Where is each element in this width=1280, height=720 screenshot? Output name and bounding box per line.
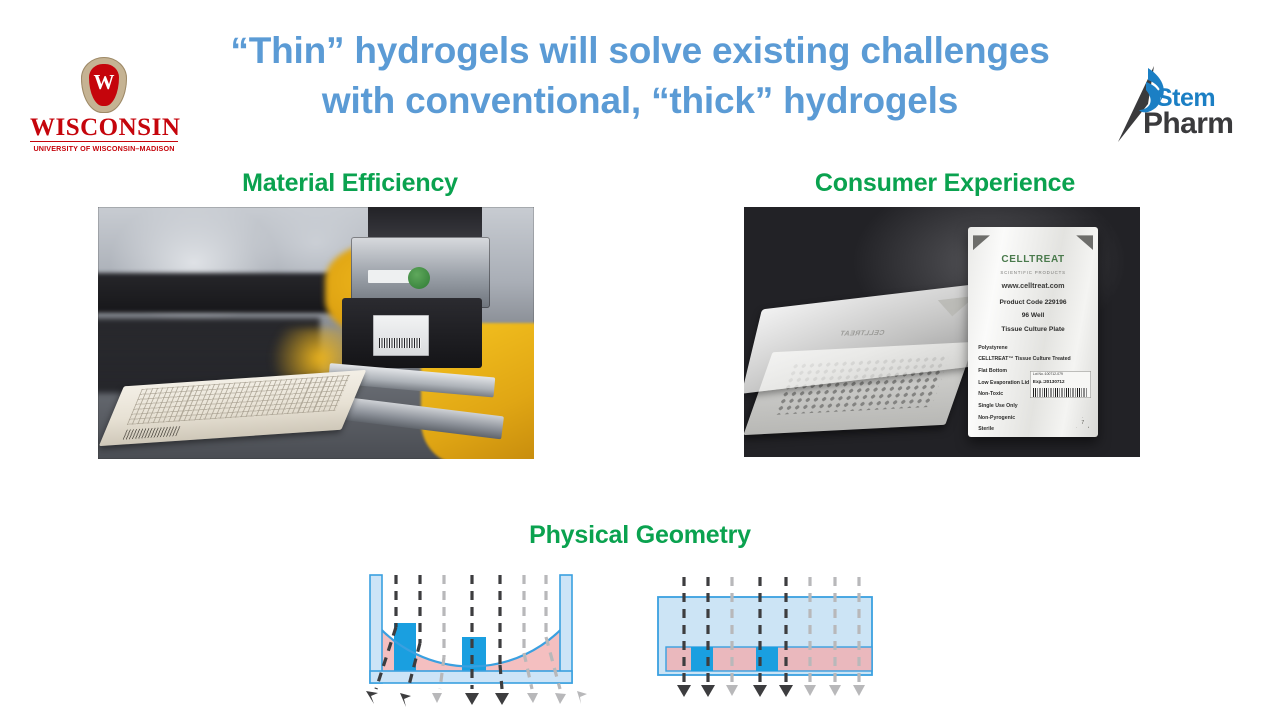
pouch-spec-item: Polystyrene <box>978 343 1093 355</box>
diagram-thin-hydrogel-well <box>650 565 880 713</box>
arrowhead-dark-tilted <box>366 691 378 704</box>
well-wall-right <box>560 575 572 683</box>
title-line-2: with conventional, “thick” hydrogels <box>150 76 1130 126</box>
pouch-tear-notch-right <box>1076 235 1093 250</box>
diagram-thick-hydrogel-well <box>352 565 590 713</box>
arrowhead-light <box>853 685 865 696</box>
arrowhead-dark <box>495 693 509 705</box>
section-heading-consumer-experience: Consumer Experience <box>750 169 1140 198</box>
pouch-lot-block: Lot No.:100712-079 Exp.:20130712 <box>1030 371 1090 398</box>
pouch-spec-item: Single Use Only <box>978 401 1093 413</box>
uw-wordmark: WISCONSIN <box>30 115 178 140</box>
arrowhead-light <box>829 685 841 696</box>
pouch-brand-name: CELLTREAT <box>968 254 1099 265</box>
pouch-spec-item: CELLTREAT™ Tissue Culture Treated <box>978 354 1093 366</box>
pouch-barcode <box>1033 388 1088 396</box>
photo-robot-barcode <box>379 338 420 348</box>
uw-crest-letter: W <box>89 72 119 93</box>
exit-arrowheads <box>366 691 587 707</box>
section-heading-physical-geometry: Physical Geometry <box>445 521 835 550</box>
arrowhead-dark-tilted <box>400 693 411 707</box>
arrowhead-light-tilted <box>577 691 587 704</box>
arrowhead-light <box>432 693 442 703</box>
arrowhead-dark <box>779 685 793 697</box>
university-logo: W WISCONSIN UNIVERSITY OF WISCONSIN–MADI… <box>30 57 178 157</box>
slide-canvas: “Thin” hydrogels will solve existing cha… <box>0 0 1280 720</box>
photo-robotic-arm-microplate <box>98 207 534 459</box>
cell-band <box>691 647 713 671</box>
thin-gel-layer <box>666 647 872 671</box>
section-heading-material-efficiency: Material Efficiency <box>160 169 540 198</box>
pouch-product-name: Tissue Culture Plate <box>968 323 1099 336</box>
arrowhead-light <box>527 693 538 703</box>
title-line-1: “Thin” hydrogels will solve existing cha… <box>150 26 1130 76</box>
photo-peel-film-brand: CELLTREAT <box>838 329 885 337</box>
exit-arrowheads <box>677 685 865 697</box>
arrowhead-dark <box>465 693 479 705</box>
arrowhead-light-tilted <box>555 693 566 704</box>
photo-microplate-barcode <box>123 427 180 440</box>
pouch-product-info: Product Code 229196 96 Well Tissue Cultu… <box>968 296 1099 336</box>
arrowhead-dark <box>677 685 691 697</box>
arrowhead-light <box>804 685 816 696</box>
arrowhead-light <box>726 685 738 696</box>
uw-subtitle: UNIVERSITY OF WISCONSIN–MADISON <box>30 141 178 152</box>
pouch-url: www.celltreat.com <box>968 281 1099 290</box>
cell-band <box>462 637 486 675</box>
pouch-tear-notch-left <box>973 235 990 250</box>
company-name-pharm: Pharm <box>1143 110 1233 139</box>
pouch-well-count: 96 Well <box>968 309 1099 322</box>
recycle-icon: 7 <box>1076 417 1089 429</box>
photo-sterile-pouch: CELLTREAT SCIENTIFIC PRODUCTS www.celltr… <box>968 227 1099 437</box>
photo-celltreat-plate-pouch: CELLTREAT CELLTREAT SCIENTIFIC PRODUCTS … <box>744 207 1140 457</box>
arrowhead-dark <box>753 685 767 697</box>
uw-crest-icon: W <box>81 57 127 113</box>
company-name: Stem Pharm <box>1156 86 1233 139</box>
uw-crest-shield: W <box>89 64 119 106</box>
photo-robot-label-front <box>373 315 430 355</box>
company-logo: Stem Pharm <box>1108 60 1253 155</box>
photo-robot-green-marker <box>408 267 430 289</box>
photo-dark-rail <box>98 273 351 313</box>
pouch-expiry: Exp.:20130712 <box>1033 379 1065 384</box>
pouch-brand-subtitle: SCIENTIFIC PRODUCTS <box>968 270 1099 275</box>
arrowhead-dark <box>701 685 715 697</box>
well-wall-left <box>370 575 382 683</box>
pouch-product-code: Product Code 229196 <box>968 296 1099 309</box>
pouch-lot-number: Lot No.:100712-079 <box>1033 372 1063 376</box>
photo-robot-label-top <box>368 270 412 283</box>
page-title: “Thin” hydrogels will solve existing cha… <box>150 26 1130 127</box>
